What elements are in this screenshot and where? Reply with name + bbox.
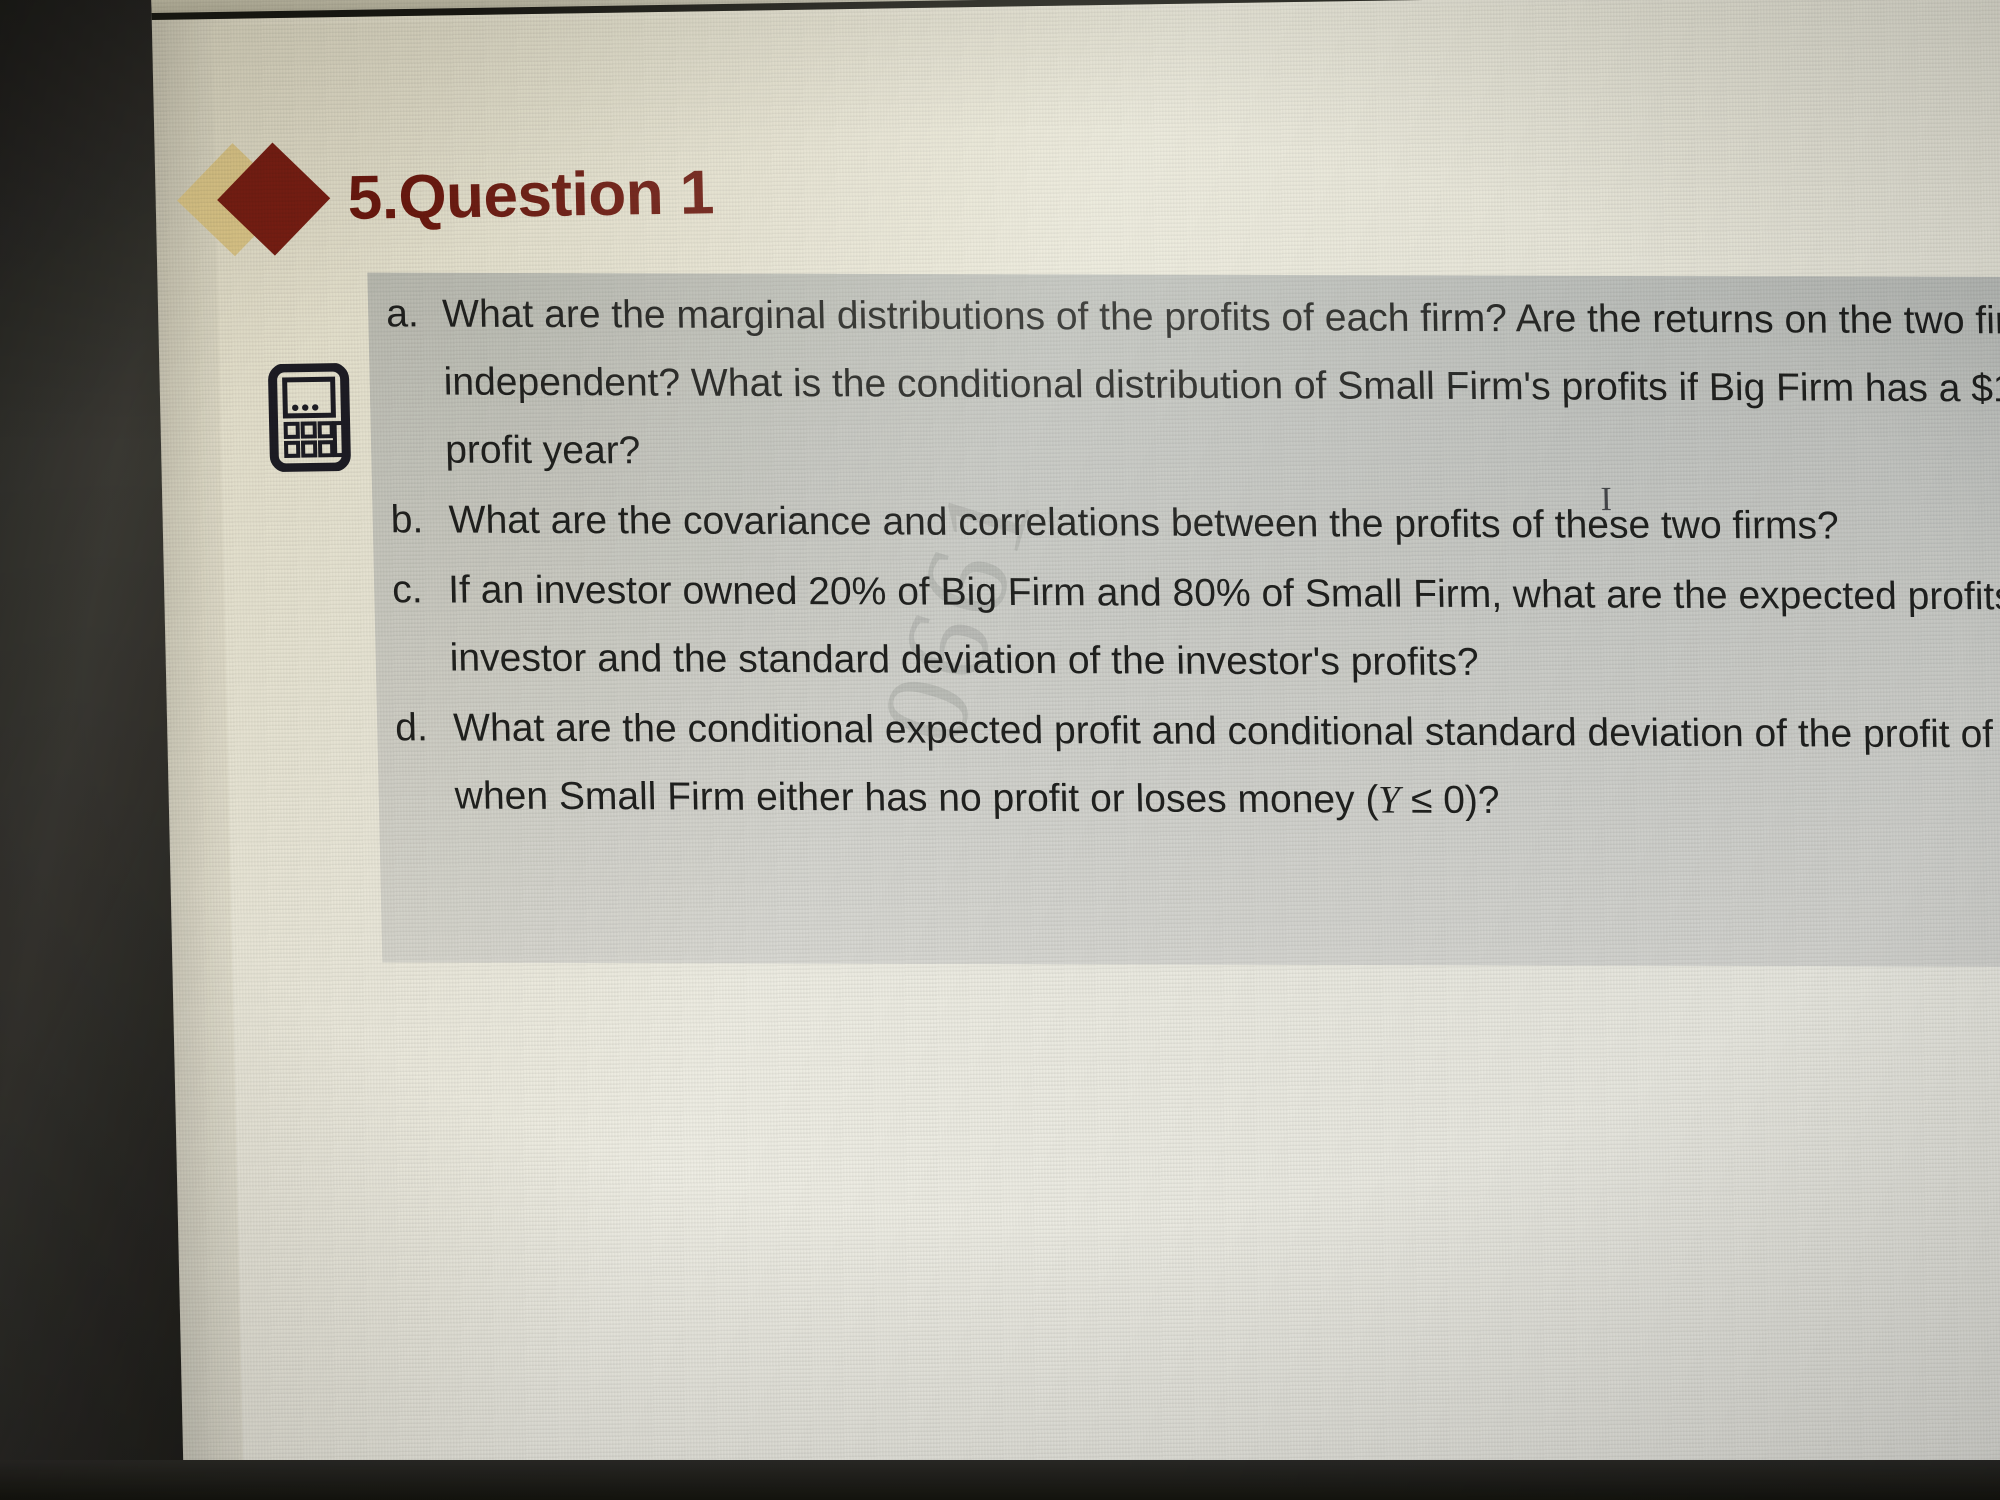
- list-item: b. What are the covariance and correlati…: [390, 486, 2000, 562]
- list-item-text-after: ≤ 0)?: [1400, 779, 1500, 822]
- list-item-text-before: What are the conditional expected profit…: [453, 706, 2000, 821]
- slide-title-row: 5.Question 1: [214, 121, 1716, 255]
- list-item-marker: d.: [395, 694, 456, 830]
- question-list: a. What are the marginal distributions o…: [385, 280, 2000, 840]
- math-variable-y: Y: [1378, 778, 1401, 821]
- list-item: c. If an investor owned 20% of Big Firm …: [392, 556, 2000, 700]
- list-item-marker: c.: [392, 556, 451, 692]
- list-item-marker: a.: [385, 280, 445, 484]
- list-item: d. What are the conditional expected pro…: [395, 694, 2000, 838]
- list-item-text: What are the covariance and correlations…: [448, 487, 2000, 562]
- list-item: a. What are the marginal distributions o…: [385, 280, 2000, 492]
- list-item-text: What are the marginal distributions of t…: [441, 281, 2000, 492]
- list-item-text: What are the conditional expected profit…: [453, 694, 2000, 837]
- page-title: 5.Question 1: [347, 157, 715, 234]
- slide-page: 5.Question 1: [212, 0, 2000, 1500]
- align-shape-icon[interactable]: [158, 0, 203, 1]
- photographed-screen: 5.Question 1: [0, 0, 2000, 1500]
- text-ibeam-cursor: I: [1600, 481, 1612, 519]
- list-item-text: If an investor owned 20% of Big Firm and…: [448, 557, 2000, 700]
- list-item-marker: b.: [390, 486, 450, 554]
- screen-surface: 5.Question 1: [150, 0, 2000, 1500]
- monitor-bezel-bottom: [0, 1460, 2000, 1500]
- calculator-icon: [267, 363, 351, 472]
